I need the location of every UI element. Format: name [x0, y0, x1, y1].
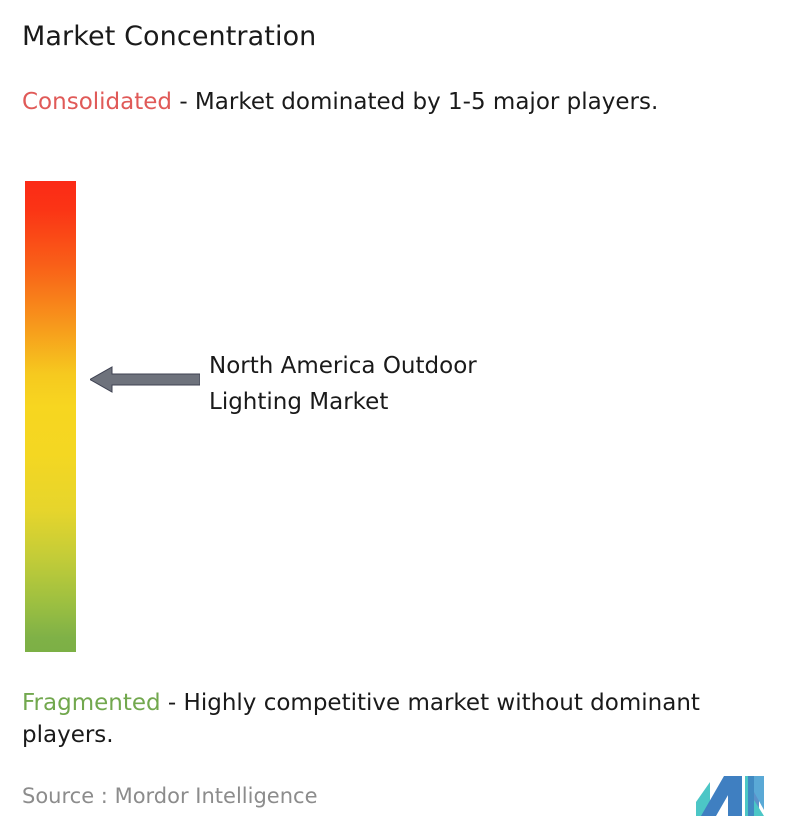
legend-consolidated-term: Consolidated [22, 89, 172, 115]
market-concentration-chart: Market Concentration Consolidated - Mark… [0, 0, 796, 834]
legend-consolidated: Consolidated - Market dominated by 1-5 m… [22, 86, 774, 118]
mordor-intelligence-logo [696, 770, 764, 816]
legend-fragmented-term: Fragmented [22, 690, 161, 716]
source-value: Mordor Intelligence [115, 784, 318, 808]
legend-consolidated-description: - Market dominated by 1-5 major players. [172, 89, 658, 115]
mi-monogram-icon [696, 770, 764, 816]
source-label: Source : [22, 784, 108, 808]
market-pointer-label: North America Outdoor Lighting Market [209, 348, 629, 420]
concentration-gradient-bar [25, 181, 76, 652]
source-line: Source : Mordor Intelligence [22, 782, 317, 810]
market-pointer-label-line2: Lighting Market [209, 384, 629, 420]
market-pointer-arrow [90, 364, 200, 395]
page-title: Market Concentration [22, 20, 316, 54]
legend-fragmented: Fragmented - Highly competitive market w… [22, 687, 782, 751]
left-arrow-icon [90, 364, 200, 395]
market-pointer-label-line1: North America Outdoor [209, 348, 629, 384]
